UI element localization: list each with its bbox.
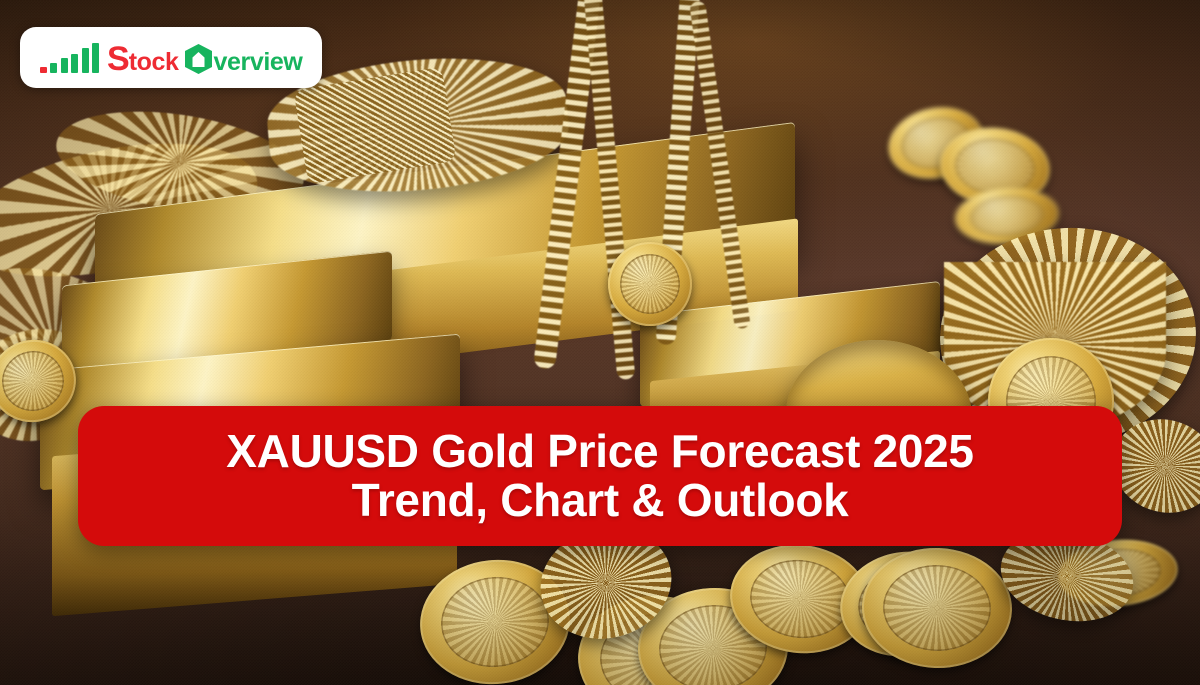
hexagon-o-icon bbox=[185, 44, 212, 74]
gold-coin-blurred bbox=[882, 99, 990, 187]
gold-amulet bbox=[0, 331, 85, 431]
page-title-line1: XAUUSD Gold Price Forecast 2025 bbox=[226, 427, 973, 476]
logo-text-tock: tock bbox=[129, 50, 179, 75]
gold-bar-top-face bbox=[108, 218, 798, 397]
bar-chart-bar-1 bbox=[50, 63, 57, 73]
background-texture bbox=[0, 0, 1200, 685]
gold-coin-bottom bbox=[833, 542, 978, 665]
logo-text-verview: verview bbox=[214, 50, 303, 75]
gold-bar-middle bbox=[62, 251, 392, 376]
gold-chain-decor bbox=[0, 120, 269, 300]
gold-bar-right-back bbox=[640, 281, 940, 407]
gold-coin-bottom bbox=[414, 553, 576, 685]
bar-chart-bar-2 bbox=[61, 58, 68, 72]
gold-coin-bottom bbox=[635, 584, 791, 685]
gold-bar-top bbox=[95, 122, 795, 346]
gold-coin-blurred bbox=[936, 122, 1054, 211]
bar-chart-bar-5 bbox=[92, 43, 99, 73]
bar-chart-bar-4 bbox=[82, 48, 89, 73]
logo-letter-s: S bbox=[107, 42, 129, 76]
gold-coin-bottom bbox=[574, 591, 743, 685]
background-vignette bbox=[0, 0, 1200, 685]
gold-chain-strand bbox=[583, 0, 636, 380]
title-banner: XAUUSD Gold Price Forecast 2025 Trend, C… bbox=[78, 406, 1122, 546]
site-logo[interactable]: S tock verview bbox=[20, 27, 322, 88]
bar-chart-icon bbox=[40, 43, 100, 73]
gold-chain-strand bbox=[655, 0, 700, 345]
background-gold-objects bbox=[0, 0, 1200, 685]
page-title-line2: Trend, Chart & Outlook bbox=[352, 476, 849, 525]
logo-wordmark: S tock verview bbox=[107, 40, 302, 76]
gold-pendant-decor bbox=[293, 67, 456, 184]
gold-coin-blurred bbox=[953, 184, 1061, 247]
hero-banner: S tock verview XAUUSD Gold Price Forecas… bbox=[0, 0, 1200, 685]
gold-coin-bottom bbox=[860, 545, 1014, 670]
gold-chain-strand bbox=[533, 0, 601, 370]
gold-bangle-body bbox=[944, 262, 1166, 427]
gold-medallion bbox=[608, 242, 692, 326]
bar-chart-bar-0 bbox=[40, 67, 47, 72]
gold-chain-strand bbox=[689, 0, 751, 329]
gold-coin-bottom bbox=[724, 537, 876, 661]
background-backdrop bbox=[0, 0, 1200, 685]
gold-chain-decor bbox=[49, 96, 311, 229]
bar-chart-bar-3 bbox=[71, 54, 78, 73]
gold-coin-bottom bbox=[1055, 535, 1180, 611]
